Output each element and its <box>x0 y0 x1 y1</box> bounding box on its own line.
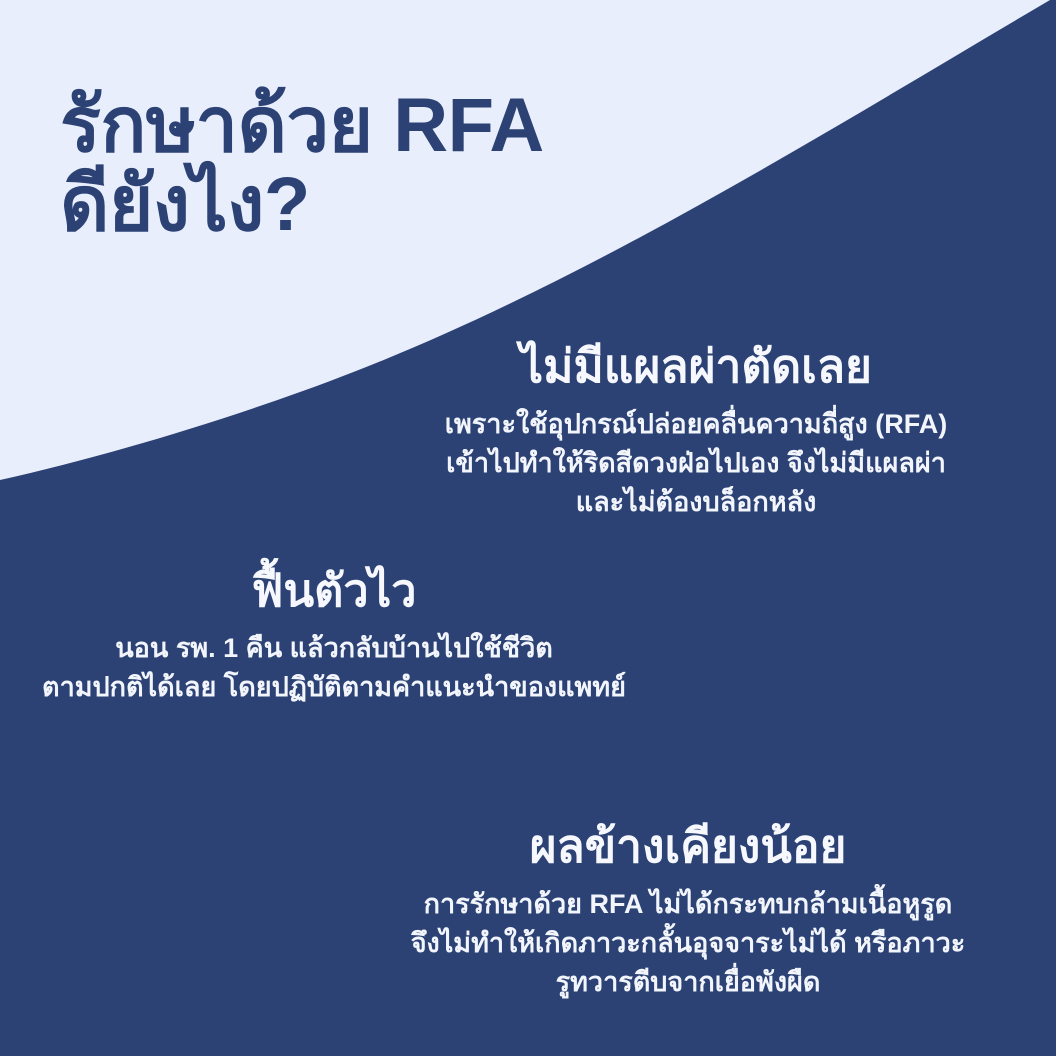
content-layer: รักษาด้วย RFA ดียังไง? ไม่มีแผลผ่าตัดเลย… <box>0 0 1056 1056</box>
benefit-body-line: ตามปกติได้เลย โดยปฏิบัติตามคำแนะนำของแพท… <box>24 668 644 707</box>
benefit-body-line: จึงไม่ทำให้เกิดภาวะกลั้นอุจจาระไม่ได้ หร… <box>378 924 998 963</box>
page-title-line-1: รักษาด้วย RFA <box>60 86 760 165</box>
page-title: รักษาด้วย RFA ดียังไง? <box>60 86 760 244</box>
benefit-body-line: และไม่ต้องบล็อกหลัง <box>396 483 996 522</box>
benefit-heading: ไม่มีแผลผ่าตัดเลย <box>396 340 996 393</box>
page-title-line-2: ดียังไง? <box>60 165 760 244</box>
benefit-block-fast-recovery: ฟื้นตัวไว นอน รพ. 1 คืน แล้วกลับบ้านไปใช… <box>24 565 644 707</box>
benefit-body-line: นอน รพ. 1 คืน แล้วกลับบ้านไปใช้ชีวิต <box>24 629 644 668</box>
benefit-heading: ฟื้นตัวไว <box>24 565 644 617</box>
benefit-block-few-side-effects: ผลข้างเคียงน้อย การรักษาด้วย RFA ไม่ได้ก… <box>378 820 998 1002</box>
benefit-body-line: เพราะใช้อุปกรณ์ปล่อยคลื่นความถี่สูง (RFA… <box>396 405 996 444</box>
benefit-body: เพราะใช้อุปกรณ์ปล่อยคลื่นความถี่สูง (RFA… <box>396 405 996 522</box>
infographic-poster: รักษาด้วย RFA ดียังไง? ไม่มีแผลผ่าตัดเลย… <box>0 0 1056 1056</box>
benefit-body-line: การรักษาด้วย RFA ไม่ได้กระทบกล้ามเนื้อหู… <box>378 885 998 924</box>
benefit-body-line: รูทวารตีบจากเยื่อพังผืด <box>378 963 998 1002</box>
benefit-heading: ผลข้างเคียงน้อย <box>378 820 998 873</box>
benefit-body-line: เข้าไปทำให้ริดสีดวงฝ่อไปเอง จึงไม่มีแผลผ… <box>396 444 996 483</box>
benefit-body: นอน รพ. 1 คืน แล้วกลับบ้านไปใช้ชีวิต ตาม… <box>24 629 644 707</box>
benefit-body: การรักษาด้วย RFA ไม่ได้กระทบกล้ามเนื้อหู… <box>378 885 998 1002</box>
benefit-block-no-incision: ไม่มีแผลผ่าตัดเลย เพราะใช้อุปกรณ์ปล่อยคล… <box>396 340 996 522</box>
